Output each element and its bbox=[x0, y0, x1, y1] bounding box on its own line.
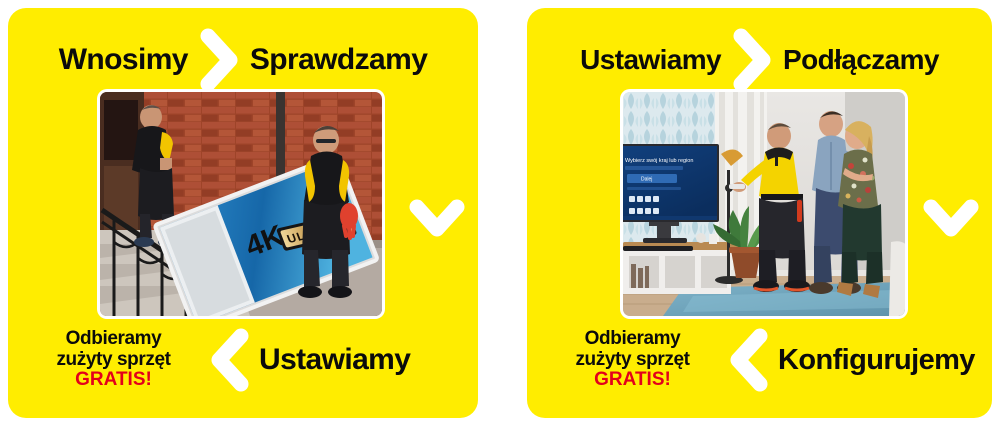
photo-configuring-tv: Wybierz swój kraj lub region Dalej bbox=[623, 92, 905, 316]
step-label-sprawdzamy: Sprawdzamy bbox=[250, 45, 427, 75]
recycling-line-2: zużyty sprzęt bbox=[56, 350, 170, 371]
service-step-panel-right: Ustawiamy Podłączamy bbox=[527, 8, 992, 418]
chevron-left-icon bbox=[207, 328, 253, 392]
step-label-ustawiamy-header: Ustawiamy bbox=[580, 46, 721, 74]
panel-right-header: Ustawiamy Podłączamy bbox=[527, 30, 992, 90]
recycling-line-2: zużyty sprzęt bbox=[575, 350, 689, 371]
chevron-down-icon bbox=[922, 196, 980, 242]
panel-left-footer: Odbieramy zużyty sprzęt GRATIS! Ustawiam… bbox=[8, 316, 478, 404]
recycling-note-right: Odbieramy zużyty sprzęt GRATIS! bbox=[545, 329, 720, 391]
recycling-note-left: Odbieramy zużyty sprzęt GRATIS! bbox=[26, 329, 201, 391]
step-label-wnosimy: Wnosimy bbox=[59, 45, 188, 75]
svg-text:Dalej: Dalej bbox=[641, 177, 652, 183]
step-label-podlaczamy: Podłączamy bbox=[783, 46, 939, 74]
photo-carrying-tv: 4K ULTRAHD bbox=[100, 92, 382, 316]
service-step-panel-left: Wnosimy Sprawdzamy bbox=[8, 8, 478, 418]
service-steps-banner: Wnosimy Sprawdzamy bbox=[0, 0, 1000, 429]
svg-text:Wybierz swój kraj lub region: Wybierz swój kraj lub region bbox=[625, 158, 693, 164]
recycling-free-badge: GRATIS! bbox=[594, 370, 671, 391]
chevron-right-icon bbox=[729, 28, 775, 92]
recycling-line-1: Odbieramy bbox=[585, 329, 681, 350]
chevron-right-icon bbox=[196, 28, 242, 92]
step-label-konfigurujemy: Konfigurujemy bbox=[778, 344, 975, 377]
panel-right-footer: Odbieramy zużyty sprzęt GRATIS! Konfigur… bbox=[527, 316, 992, 404]
recycling-free-badge: GRATIS! bbox=[75, 370, 152, 391]
recycling-line-1: Odbieramy bbox=[66, 329, 162, 350]
chevron-down-icon bbox=[408, 196, 466, 242]
panel-left-header: Wnosimy Sprawdzamy bbox=[8, 30, 478, 90]
chevron-left-icon bbox=[726, 328, 772, 392]
step-label-ustawiamy: Ustawiamy bbox=[259, 343, 410, 377]
